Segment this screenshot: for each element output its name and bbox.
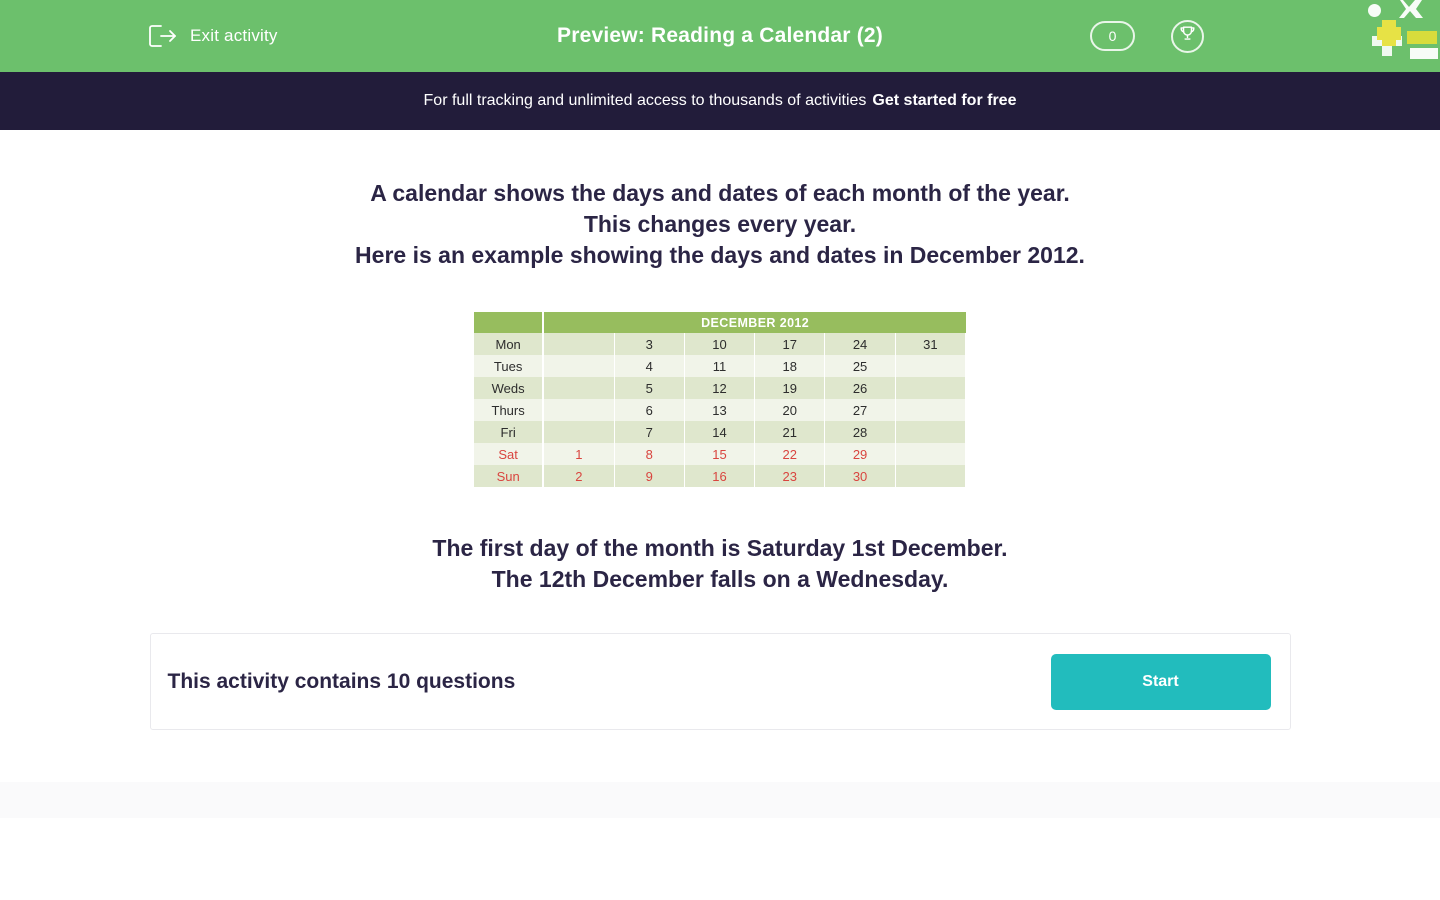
calendar-row: Mon310172431	[474, 333, 966, 355]
calendar-date-cell: 5	[615, 377, 685, 399]
calendar-date-cell	[896, 399, 966, 421]
deco-cross-icon	[1399, 0, 1429, 22]
intro-block: A calendar shows the days and dates of e…	[0, 178, 1440, 271]
app-header: Exit activity Preview: Reading a Calenda…	[0, 0, 1440, 72]
calendar-date-cell	[896, 421, 966, 443]
footer-band	[0, 782, 1440, 818]
calendar-date-cell: 16	[685, 465, 755, 487]
calendar-day-label: Sun	[474, 465, 544, 487]
calendar-row: Sat18152229	[474, 443, 966, 465]
calendar-day-label: Weds	[474, 377, 544, 399]
calendar-date-cell	[896, 465, 966, 487]
calendar-date-cell: 10	[685, 333, 755, 355]
calendar-date-cell: 27	[825, 399, 895, 421]
activity-question-count: This activity contains 10 questions	[168, 670, 516, 694]
calendar-date-cell: 15	[685, 443, 755, 465]
calendar-date-cell	[544, 355, 614, 377]
calendar-date-cell: 30	[825, 465, 895, 487]
calendar-figure: DECEMBER 2012 Mon310172431Tues4111825Wed…	[474, 312, 966, 487]
calendar-date-cell	[896, 443, 966, 465]
promo-text: For full tracking and unlimited access t…	[424, 92, 867, 110]
calendar-day-label: Thurs	[474, 399, 544, 421]
calendar-day-label: Sat	[474, 443, 544, 465]
trophy-icon	[1178, 24, 1197, 48]
calendar-table: DECEMBER 2012 Mon310172431Tues4111825Wed…	[474, 312, 966, 487]
deco-plus-yellow-h-icon	[1377, 27, 1401, 40]
get-started-link[interactable]: Get started for free	[872, 92, 1016, 110]
calendar-date-cell: 25	[825, 355, 895, 377]
calendar-date-cell	[896, 377, 966, 399]
score-value: 0	[1109, 28, 1117, 44]
calendar-header-row: DECEMBER 2012	[474, 312, 966, 333]
deco-rect-yellow-icon	[1407, 31, 1437, 44]
deco-rect-white-icon	[1410, 48, 1438, 59]
intro-line-2: This changes every year.	[0, 209, 1440, 240]
calendar-row: Weds5121926	[474, 377, 966, 399]
calendar-date-cell: 6	[615, 399, 685, 421]
page-title: Preview: Reading a Calendar (2)	[0, 24, 1440, 48]
calendar-date-cell: 29	[825, 443, 895, 465]
calendar-date-cell: 31	[896, 333, 966, 355]
calendar-corner-cell	[474, 312, 544, 333]
calendar-date-cell: 23	[755, 465, 825, 487]
calendar-date-cell: 11	[685, 355, 755, 377]
start-button[interactable]: Start	[1051, 654, 1271, 710]
calendar-day-label: Tues	[474, 355, 544, 377]
conclusion-line-1: The first day of the month is Saturday 1…	[0, 533, 1440, 564]
main-content: A calendar shows the days and dates of e…	[0, 130, 1440, 730]
calendar-date-cell: 8	[615, 443, 685, 465]
calendar-row: Sun29162330	[474, 465, 966, 487]
score-badge[interactable]: 0	[1090, 21, 1135, 51]
conclusion-line-2: The 12th December falls on a Wednesday.	[0, 564, 1440, 595]
activity-card: This activity contains 10 questions Star…	[150, 633, 1291, 730]
calendar-date-cell: 9	[615, 465, 685, 487]
calendar-date-cell	[544, 399, 614, 421]
calendar-date-cell	[544, 421, 614, 443]
calendar-date-cell: 12	[685, 377, 755, 399]
deco-circle-icon	[1368, 4, 1381, 17]
calendar-date-cell: 14	[685, 421, 755, 443]
conclusion-block: The first day of the month is Saturday 1…	[0, 533, 1440, 595]
calendar-row: Fri7142128	[474, 421, 966, 443]
calendar-date-cell: 26	[825, 377, 895, 399]
calendar-date-cell: 2	[544, 465, 614, 487]
intro-line-3: Here is an example showing the days and …	[0, 240, 1440, 271]
calendar-date-cell: 22	[755, 443, 825, 465]
intro-line-1: A calendar shows the days and dates of e…	[0, 178, 1440, 209]
calendar-date-cell: 17	[755, 333, 825, 355]
calendar-date-cell: 1	[544, 443, 614, 465]
decorative-shapes	[1355, 0, 1440, 62]
calendar-date-cell: 18	[755, 355, 825, 377]
calendar-row: Tues4111825	[474, 355, 966, 377]
calendar-date-cell: 3	[615, 333, 685, 355]
calendar-date-cell	[544, 333, 614, 355]
trophy-button[interactable]	[1171, 20, 1204, 53]
calendar-date-cell: 21	[755, 421, 825, 443]
calendar-date-cell: 4	[615, 355, 685, 377]
calendar-body: Mon310172431Tues4111825Weds5121926Thurs6…	[474, 333, 966, 487]
calendar-date-cell: 20	[755, 399, 825, 421]
calendar-date-cell	[544, 377, 614, 399]
calendar-date-cell: 7	[615, 421, 685, 443]
calendar-date-cell: 13	[685, 399, 755, 421]
calendar-date-cell: 24	[825, 333, 895, 355]
calendar-date-cell: 19	[755, 377, 825, 399]
calendar-row: Thurs6132027	[474, 399, 966, 421]
calendar-day-label: Fri	[474, 421, 544, 443]
calendar-date-cell	[896, 355, 966, 377]
calendar-date-cell: 28	[825, 421, 895, 443]
calendar-day-label: Mon	[474, 333, 544, 355]
promo-banner: For full tracking and unlimited access t…	[0, 72, 1440, 130]
calendar-month-title: DECEMBER 2012	[544, 312, 966, 333]
